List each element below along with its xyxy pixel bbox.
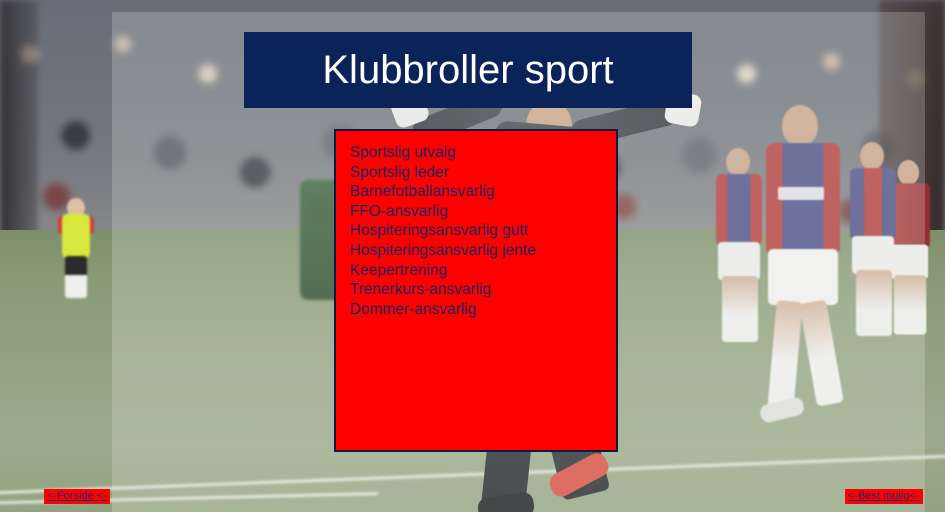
list-item: FFO-ansvarlig — [350, 202, 616, 222]
player-foreground-right — [748, 105, 868, 425]
ballkid-vest — [62, 214, 90, 258]
ballkid-figure — [58, 198, 94, 304]
list-item: Sportslig leder — [350, 163, 616, 183]
list-item: Keepertrening — [350, 261, 616, 281]
title-banner: Klubbroller sport — [244, 32, 692, 108]
player-leg — [767, 300, 802, 412]
list-item: Hospiteringsansvarlig jente — [350, 241, 616, 261]
nav-next-link[interactable]: <-Best mulig<- — [845, 489, 923, 504]
roles-content-box: Sportslig utvalg Sportslig leder Barnefo… — [334, 129, 618, 452]
nav-back-link[interactable]: <-Forside <- — [44, 489, 110, 504]
player-shorts — [768, 249, 838, 305]
list-item: Dommer-ansvarlig — [350, 300, 616, 320]
list-item: Hospiteringsansvarlig gutt — [350, 221, 616, 241]
list-item: Sportslig utvalg — [350, 143, 616, 163]
player-head — [782, 105, 818, 147]
player-leg — [799, 299, 844, 406]
stand-left-edge — [0, 0, 38, 256]
ballkid-legs — [65, 256, 87, 298]
presentation-slide: Klubbroller sport Sportslig utvalg Sport… — [0, 0, 945, 512]
list-item: Trenerkurs-ansvarlig — [350, 280, 616, 300]
shirt-sponsor-logo — [778, 187, 824, 200]
player-head — [726, 148, 750, 176]
roles-list: Sportslig utvalg Sportslig leder Barnefo… — [336, 131, 616, 319]
list-item: Barnefotballansvarlig — [350, 182, 616, 202]
page-title: Klubbroller sport — [322, 50, 613, 90]
player-boot — [758, 396, 805, 424]
